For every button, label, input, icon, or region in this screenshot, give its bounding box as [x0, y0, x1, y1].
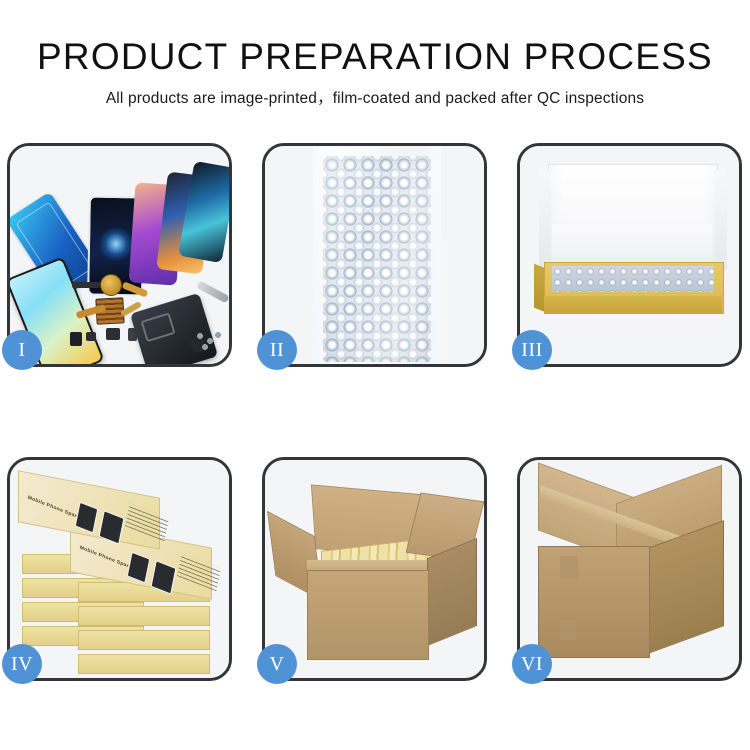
box-spec-lines [177, 553, 221, 591]
camera-module-part-icon [70, 332, 82, 346]
chip-part-icon [106, 328, 120, 340]
plastic-sheen [313, 146, 441, 364]
carton-front-panel [538, 546, 650, 658]
box-stack: Mobile Phone Spare Parts Mobile Phone Sp… [18, 476, 224, 672]
step-badge-1: I [2, 330, 42, 370]
stacked-box [78, 654, 210, 674]
carton-side-panel [427, 538, 477, 646]
step-badge-2: II [257, 330, 297, 370]
inner-box-photo [520, 146, 739, 364]
step-badge-3: III [512, 330, 552, 370]
product-preparation-infographic: PRODUCT PREPARATION PROCESS All products… [0, 0, 750, 750]
box-phone-graphic [127, 552, 151, 584]
step-badge-4: IV [2, 644, 42, 684]
phone-back-housing-icon [130, 293, 218, 364]
stacked-box [78, 630, 210, 650]
carton-front-panel [307, 570, 429, 660]
page-title: PRODUCT PREPARATION PROCESS [0, 0, 750, 78]
box-phone-graphic [75, 502, 99, 534]
process-step-card-4: Mobile Phone Spare Parts Mobile Phone Sp… [7, 457, 232, 681]
speaker-bar-part-icon [72, 282, 100, 288]
page-subtitle: All products are image-printed，film-coat… [0, 78, 750, 109]
sealed-carton-photo [520, 460, 739, 678]
phone-parts-photo [10, 146, 229, 364]
screws-icon [196, 332, 222, 350]
bubble-wrap-photo [265, 146, 484, 364]
process-step-card-1: I [7, 143, 232, 367]
coil-part-icon [100, 274, 122, 296]
carton-tab [560, 620, 576, 640]
header: PRODUCT PREPARATION PROCESS All products… [0, 0, 750, 109]
stacked-boxes-photo: Mobile Phone Spare Parts Mobile Phone Sp… [10, 460, 229, 678]
stacked-box [78, 606, 210, 626]
bubble-wrapped-contents-icon [552, 266, 714, 292]
process-step-card-2: II [262, 143, 487, 367]
process-step-card-6: VI [517, 457, 742, 681]
carton-tab [560, 556, 578, 578]
step-badge-5: V [257, 644, 297, 684]
tray-front-panel [544, 296, 722, 314]
process-step-card-3: III [517, 143, 742, 367]
step-badge-6: VI [512, 644, 552, 684]
box-spec-lines [125, 503, 169, 541]
process-step-card-5: V [262, 457, 487, 681]
chip-part-icon [86, 332, 96, 341]
open-carton-photo [265, 460, 484, 678]
